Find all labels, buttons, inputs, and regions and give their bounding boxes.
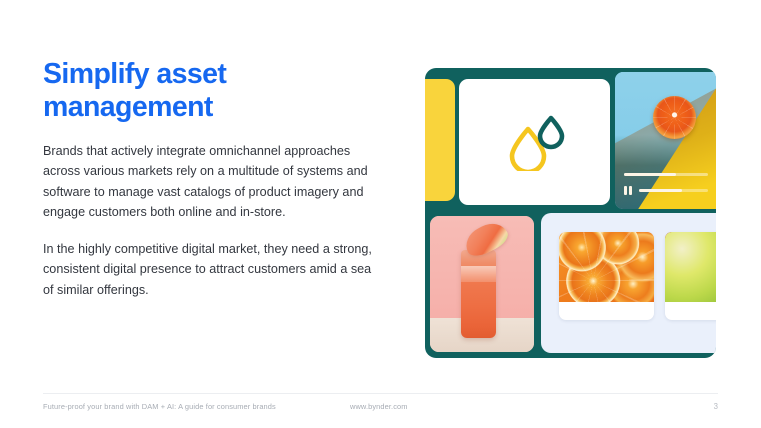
smoothie-photo-tile <box>430 216 534 352</box>
smoothie-glass <box>461 250 496 338</box>
footer-page-number: 3 <box>714 402 718 411</box>
page-title: Simplify asset management <box>43 58 373 125</box>
slide-text-column: Simplify asset management Brands that ac… <box>43 58 373 300</box>
footer-document-title: Future-proof your brand with DAM + AI: A… <box>43 402 276 411</box>
water-droplet-logo-icon <box>504 113 566 171</box>
footer-divider <box>43 393 718 394</box>
slide-footer: Future-proof your brand with DAM + AI: A… <box>0 402 761 418</box>
video-controls[interactable] <box>624 184 708 196</box>
body-paragraph-1: Brands that actively integrate omnichann… <box>43 141 373 223</box>
grapefruit-half-image <box>653 96 696 139</box>
video-volume-bar[interactable] <box>639 189 709 192</box>
mixed-citrus-thumbnail <box>665 232 716 302</box>
mixed-citrus-asset[interactable] <box>665 232 716 320</box>
pause-icon[interactable] <box>624 186 632 195</box>
body-paragraph-2: In the highly competitive digital market… <box>43 239 373 301</box>
asset-collage-panel <box>425 68 716 358</box>
asset-library-panel <box>541 213 716 353</box>
video-asset-card[interactable] <box>615 72 716 209</box>
orange-slices-thumbnail <box>559 232 654 302</box>
video-progress-bar[interactable] <box>624 173 708 176</box>
footer-website-url: www.bynder.com <box>350 402 408 411</box>
yellow-accent-tile <box>425 79 455 201</box>
orange-slices-asset[interactable] <box>559 232 654 320</box>
brand-logo-card <box>459 79 610 205</box>
